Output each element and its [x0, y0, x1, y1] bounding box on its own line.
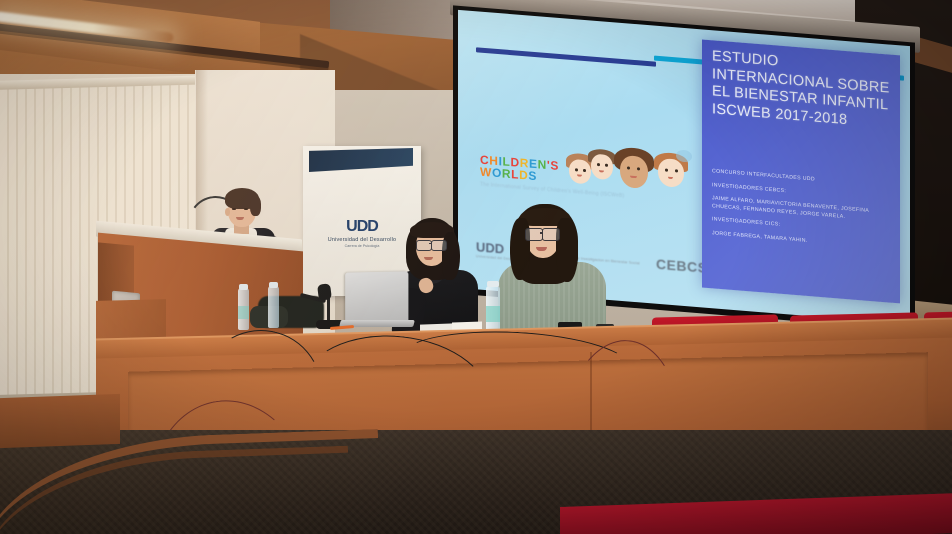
- panelist-left-glasses-left: [416, 240, 432, 251]
- speaker-eye-left: [232, 208, 236, 210]
- panelist-right-glasses-left: [525, 228, 543, 241]
- speaker-ear: [225, 208, 230, 216]
- panelist-right-glasses-bridge: [540, 232, 543, 234]
- slide-cebcs-logo: CEBCS: [656, 256, 708, 276]
- water-bottle-cap: [487, 281, 499, 287]
- water-bottle: [268, 286, 279, 328]
- logo-child-4: [654, 152, 688, 191]
- water-bottle-label: [238, 306, 249, 319]
- childrens-worlds-tagline: The International Survey of Children's W…: [480, 182, 690, 205]
- laptop-screen: [345, 271, 408, 322]
- auditorium-photo: CHILDREN'S WORLDS The International Surv…: [0, 0, 952, 534]
- stage-riser: [0, 394, 120, 448]
- slide-title: ESTUDIO INTERNACIONAL SOBRE EL BIENESTAR…: [712, 48, 896, 133]
- speaker-eye-right: [244, 208, 248, 210]
- panelist-left-glasses-right: [431, 240, 447, 251]
- logo-child-2: [588, 148, 616, 182]
- panelist-right-hair-right: [556, 218, 578, 282]
- table-microphone-head: [317, 283, 332, 300]
- water-bottle-label: [486, 306, 500, 322]
- panelist-left-glasses-bridge: [429, 243, 432, 244]
- slide-body: CONCURSO INTERFACULTADES UDD INVESTIGADO…: [712, 168, 892, 258]
- speaker-hair-side: [250, 196, 261, 216]
- panelist-right-glasses-right: [542, 228, 560, 241]
- water-bottle-cap: [269, 282, 278, 288]
- slide-title-panel: ESTUDIO INTERNACIONAL SOBRE EL BIENESTAR…: [702, 39, 900, 303]
- logo-child-3: [614, 146, 654, 191]
- slide-accent-line-dark: [476, 47, 656, 66]
- childrens-worlds-wordmark: CHILDREN'S WORLDS: [480, 154, 559, 184]
- panelist-right-person: [498, 204, 608, 340]
- water-bottle-cap: [239, 284, 248, 290]
